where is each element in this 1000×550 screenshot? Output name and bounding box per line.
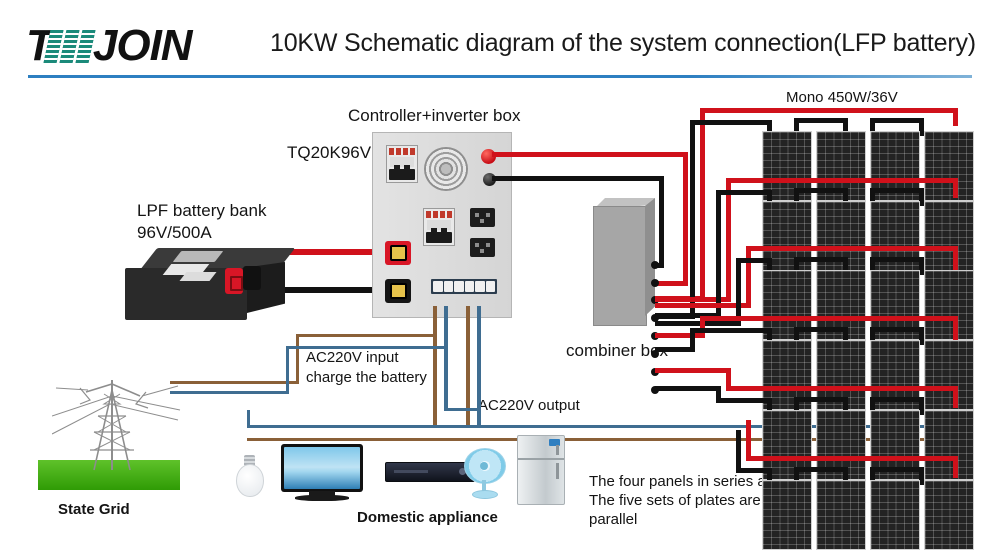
string2-neg-run xyxy=(716,190,772,195)
solar-panel xyxy=(924,201,974,271)
label-state-grid: State Grid xyxy=(58,500,130,520)
grid-neutral-left xyxy=(286,346,289,394)
tv-screen xyxy=(281,444,363,492)
television-icon xyxy=(281,444,363,502)
note-line-2: The five sets of plates are in xyxy=(589,491,777,511)
string6-pos-run xyxy=(746,456,958,461)
grid-live-top xyxy=(296,334,437,337)
solar-panel xyxy=(924,270,974,340)
logo-word-join: JOIN xyxy=(93,24,192,68)
fan-base xyxy=(472,490,498,499)
electric-fan-icon xyxy=(464,448,504,498)
string1-neg-run xyxy=(690,120,772,125)
label-panel-spec: Mono 450W/36V xyxy=(786,88,898,108)
logo-bars-icon xyxy=(43,30,95,63)
terminal-slot xyxy=(465,281,475,292)
string6-pos-drop xyxy=(953,456,958,478)
fridge-door-divider xyxy=(518,458,564,460)
combiner-box[interactable] xyxy=(593,198,655,324)
combiner-terminal-1[interactable] xyxy=(651,261,659,269)
circuit-breaker-2[interactable] xyxy=(423,208,455,246)
ac-output-jog xyxy=(444,408,480,411)
refrigerator-icon xyxy=(517,435,565,505)
combiner-terminal-2[interactable] xyxy=(651,279,659,287)
string2-link-a xyxy=(794,188,848,193)
grid-neutral-to-tower xyxy=(170,391,289,394)
ac-terminal-strip[interactable] xyxy=(431,279,497,294)
string2-link-b xyxy=(870,188,924,193)
string4-pos-drop xyxy=(953,316,958,340)
string1-pos-drop xyxy=(953,108,958,126)
battery-negative-terminal[interactable] xyxy=(385,279,411,303)
breaker-label-strip xyxy=(389,148,415,155)
ac-input-neutral-wire xyxy=(444,306,448,410)
label-controller-box: Controller+inverter box xyxy=(348,105,520,128)
pv-negative-wire-top xyxy=(492,176,663,181)
string1-link-b xyxy=(870,118,924,123)
header-divider xyxy=(28,75,972,78)
tv-picture xyxy=(284,447,360,489)
ac-output-bus-left-riser xyxy=(247,410,250,426)
controller-inverter-box[interactable] xyxy=(372,132,512,318)
string3-pos-drop xyxy=(953,246,958,270)
terminal-lug xyxy=(390,283,407,299)
string2-pos-run xyxy=(726,178,958,183)
string1-link-a xyxy=(794,118,848,123)
teejoin-logo: T JOIN xyxy=(26,24,258,68)
breaker-switch[interactable] xyxy=(426,232,452,243)
grid-live-to-tower xyxy=(170,381,299,384)
tv-base xyxy=(295,495,349,501)
solar-panel xyxy=(924,131,974,201)
page-title: 10KW Schematic diagram of the system con… xyxy=(270,29,970,58)
transmission-tower-icon xyxy=(52,370,182,480)
fridge-handle-bottom xyxy=(556,463,559,479)
string4-neg-run xyxy=(690,328,772,333)
battery-negative-post xyxy=(243,266,261,290)
terminal-slot xyxy=(433,281,443,292)
fan-hub xyxy=(480,462,488,470)
dvd-tray xyxy=(394,470,428,473)
string6-neg-riser xyxy=(736,430,741,472)
light-bulb-icon xyxy=(236,455,262,495)
ac-socket-2[interactable] xyxy=(470,238,495,257)
bulb-glass xyxy=(236,464,264,497)
string6-link-b xyxy=(870,467,924,472)
label-ac-input-line2: charge the battery xyxy=(306,368,427,388)
ac-input-live-wire xyxy=(433,306,437,428)
string5-neg-run xyxy=(716,398,772,403)
string2-pos-drop xyxy=(953,178,958,198)
terminal-slot xyxy=(454,281,464,292)
label-model: TQ20K96V xyxy=(287,142,371,165)
string3-pos-riser xyxy=(746,246,751,308)
string4-link-b xyxy=(870,327,924,332)
pv-positive-wire-top xyxy=(492,152,688,157)
string4-neg-tap xyxy=(655,347,695,352)
solar-panel xyxy=(924,410,974,480)
grid-live-left xyxy=(296,334,299,384)
dvd-player-icon xyxy=(385,462,475,482)
string6-link-a xyxy=(794,467,848,472)
string1-neg-riser xyxy=(690,120,695,314)
note-line-1: The four panels in series and xyxy=(589,472,782,492)
schematic-diagram: T JOIN 10KW Schematic diagram of the sys… xyxy=(0,0,1000,543)
battery-positive-terminal[interactable] xyxy=(385,241,411,265)
pv-positive-wire-drop xyxy=(683,152,688,286)
lfp-battery-bank xyxy=(125,248,285,320)
pv-negative-wire-drop xyxy=(659,176,664,268)
string5-link-a xyxy=(794,397,848,402)
label-domestic-appliance: Domestic appliance xyxy=(357,508,498,528)
label-battery-bank: LPF battery bank xyxy=(137,200,266,223)
string3-neg-tap xyxy=(655,321,741,326)
pv-positive-wire-to-combiner xyxy=(655,281,688,286)
ac-socket-1[interactable] xyxy=(470,208,495,227)
fridge-handle-top xyxy=(556,445,559,455)
string1-pos-run xyxy=(700,108,958,113)
label-ac-input-line1: AC220V input xyxy=(306,348,399,368)
string4-pos-tap xyxy=(655,333,705,338)
solar-panel xyxy=(924,480,974,550)
string2-neg-riser xyxy=(716,190,721,318)
string4-link-a xyxy=(794,327,848,332)
terminal-lug xyxy=(390,245,407,261)
string5-neg-tap xyxy=(655,386,721,391)
label-battery-rating: 96V/500A xyxy=(137,222,212,245)
string1-pos-riser xyxy=(700,108,705,296)
label-ac-output: AC220V output xyxy=(478,396,580,416)
string4-pos-run xyxy=(700,316,958,321)
string6-pos-riser xyxy=(746,420,751,460)
string5-pos-drop xyxy=(953,386,958,408)
combiner-front-face xyxy=(593,206,647,326)
string5-pos-tap xyxy=(655,368,731,373)
solar-panel xyxy=(816,480,866,550)
grid-neutral-top xyxy=(286,346,447,349)
string3-link-b xyxy=(870,257,924,262)
rotary-dial[interactable] xyxy=(424,147,468,191)
string5-pos-run xyxy=(726,386,958,391)
solar-panel xyxy=(762,480,812,550)
terminal-slot xyxy=(486,281,496,292)
string5-link-b xyxy=(870,397,924,402)
solar-panel xyxy=(924,340,974,410)
battery-positive-post xyxy=(225,268,243,294)
terminal-slot xyxy=(475,281,485,292)
string2-pos-riser xyxy=(726,178,731,302)
solar-panel xyxy=(870,480,920,550)
breaker-label-strip xyxy=(426,211,452,218)
terminal-slot xyxy=(444,281,454,292)
string3-pos-run xyxy=(746,246,958,251)
note-line-3: parallel xyxy=(589,510,637,530)
string3-link-a xyxy=(794,257,848,262)
battery-handle xyxy=(173,251,224,262)
breaker-switch[interactable] xyxy=(389,169,415,180)
circuit-breaker-1[interactable] xyxy=(386,145,418,183)
